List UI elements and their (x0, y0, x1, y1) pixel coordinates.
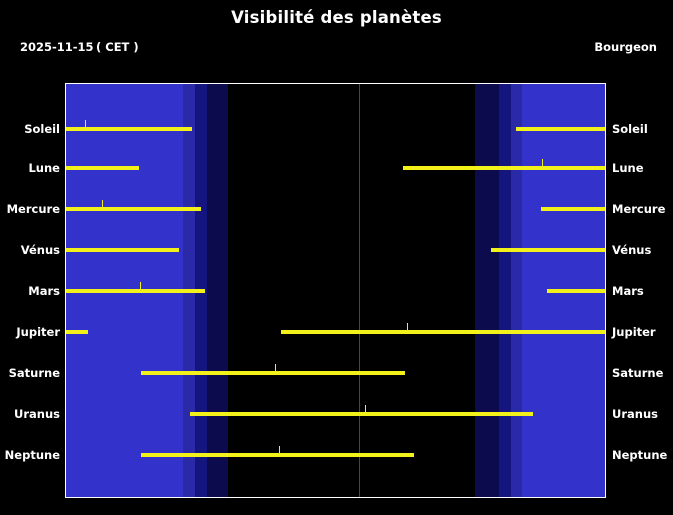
row-label-mars-l: Mars (28, 284, 60, 298)
visibility-bar (190, 412, 534, 416)
transit-marker (542, 159, 543, 166)
visibility-bar (66, 166, 139, 170)
chart-date: 2025-11-15 (20, 40, 94, 54)
band-night (228, 84, 475, 497)
visibility-bar (66, 330, 88, 334)
transit-marker (102, 200, 103, 207)
band-astronomical-twilight-left (207, 84, 227, 497)
row-label-mercure-r: Mercure (612, 202, 665, 216)
transit-marker (275, 364, 276, 371)
visibility-bar (66, 127, 192, 131)
transit-marker (140, 282, 141, 289)
row-label-vnus-r: Vénus (612, 243, 651, 257)
chart-location: Bourgeon (594, 40, 657, 54)
transit-marker (365, 405, 366, 412)
band-civil-twilight-right (511, 84, 522, 497)
visibility-bar (516, 127, 605, 131)
row-label-mars-r: Mars (612, 284, 644, 298)
plot-area: 121416182022024681012 (66, 84, 605, 497)
row-label-jupiter-r: Jupiter (612, 325, 656, 339)
visibility-bar (403, 166, 605, 170)
chart-timezone: ( CET ) (96, 40, 139, 54)
row-label-soleil-l: Soleil (24, 122, 60, 136)
visibility-bar (281, 330, 605, 334)
row-label-neptune-l: Neptune (5, 448, 60, 462)
row-label-lune-r: Lune (612, 161, 644, 175)
band-nautical-twilight-right (499, 84, 510, 497)
page-title: Visibilité des planètes (0, 8, 673, 27)
visibility-bar (491, 248, 605, 252)
visibility-bar (66, 289, 205, 293)
visibility-bar (141, 371, 405, 375)
row-label-jupiter-l: Jupiter (16, 325, 60, 339)
visibility-bar (66, 248, 179, 252)
row-label-saturne-r: Saturne (612, 366, 663, 380)
visibility-bar (541, 207, 605, 211)
row-label-neptune-r: Neptune (612, 448, 667, 462)
row-label-mercure-l: Mercure (7, 202, 60, 216)
visibility-chart: Visibilité des planètes 2025-11-15 ( CET… (0, 0, 673, 515)
visibility-bar (66, 207, 201, 211)
visibility-bar (141, 453, 414, 457)
row-label-soleil-r: Soleil (612, 122, 648, 136)
row-label-uranus-l: Uranus (14, 407, 60, 421)
band-astronomical-twilight-right (475, 84, 500, 497)
row-label-saturne-l: Saturne (9, 366, 60, 380)
transit-marker (279, 446, 280, 453)
meridian-line (359, 84, 360, 497)
row-label-lune-l: Lune (28, 161, 60, 175)
row-label-vnus-l: Vénus (21, 243, 60, 257)
transit-marker (85, 120, 86, 127)
row-label-uranus-r: Uranus (612, 407, 658, 421)
visibility-bar (547, 289, 605, 293)
transit-marker (407, 323, 408, 330)
